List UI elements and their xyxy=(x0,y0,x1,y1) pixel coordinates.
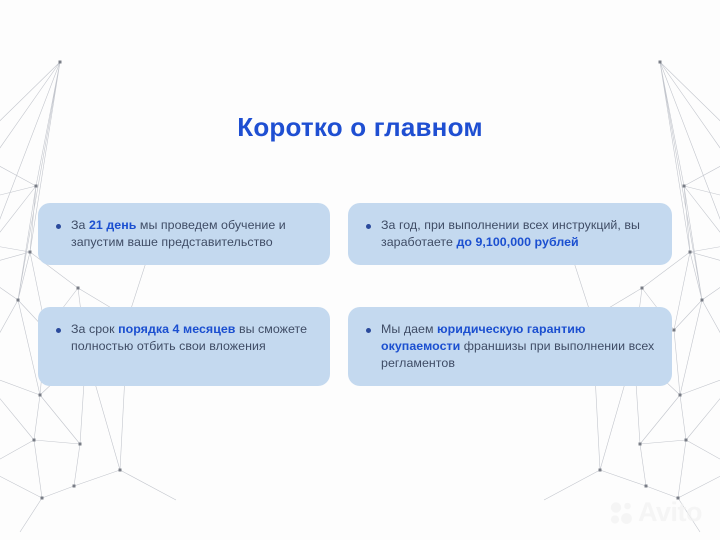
avito-logo-icon xyxy=(609,500,635,526)
card-payback: За срок порядка 4 месяцев вы сможете пол… xyxy=(38,307,330,386)
bullet-dot-icon xyxy=(366,328,371,333)
slide-root: Коротко о главном За 21 день мы проведем… xyxy=(0,0,720,540)
card-term: За 21 день мы проведем обучение и запуст… xyxy=(38,203,330,265)
page-title: Коротко о главном xyxy=(0,112,720,143)
avito-watermark-text: Avito xyxy=(638,499,702,526)
card-revenue: За год, при выполнении всех инструкций, … xyxy=(348,203,672,265)
card-guarantee-text: Мы даем юридическую гарантию окупаемости… xyxy=(381,321,656,372)
avito-watermark: Avito xyxy=(609,499,702,526)
card-payback-text: За срок порядка 4 месяцев вы сможете пол… xyxy=(71,321,314,355)
card-revenue-text: За год, при выполнении всех инструкций, … xyxy=(381,217,656,251)
bullet-dot-icon xyxy=(56,328,61,333)
bullet-dot-icon xyxy=(366,224,371,229)
bullet-dot-icon xyxy=(56,224,61,229)
highlights-card-grid: За 21 день мы проведем обучение и запуст… xyxy=(38,203,672,386)
card-guarantee: Мы даем юридическую гарантию окупаемости… xyxy=(348,307,672,386)
card-term-text: За 21 день мы проведем обучение и запуст… xyxy=(71,217,314,251)
